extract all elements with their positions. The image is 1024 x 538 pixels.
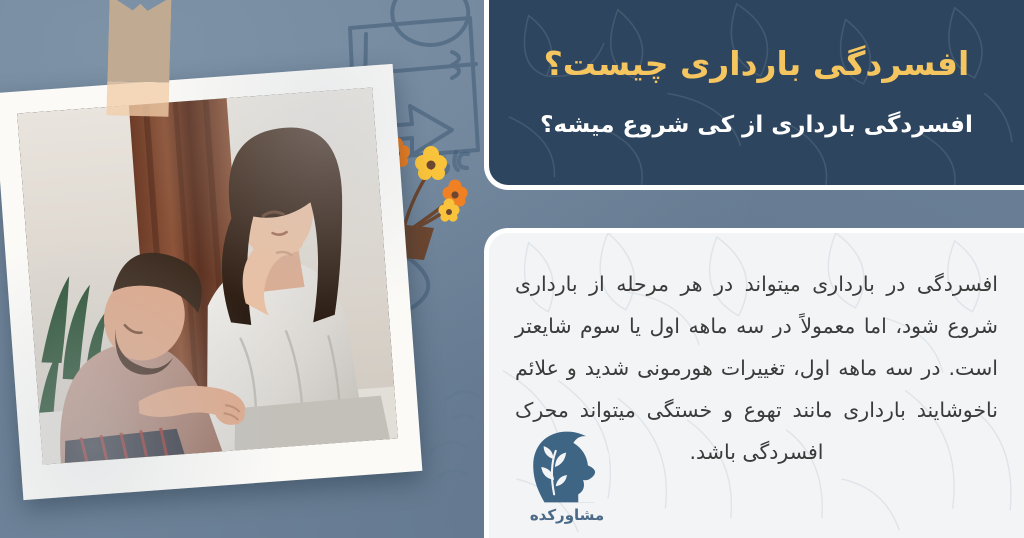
head-with-plant-icon bbox=[525, 430, 609, 504]
header-leaf-pattern bbox=[489, 0, 1024, 185]
photo-image bbox=[17, 87, 398, 464]
tape-lower bbox=[106, 81, 169, 117]
tape-upper bbox=[107, 0, 171, 83]
body-card: افسردگی در بارداری میتواند در هر مرحله ا… bbox=[484, 228, 1024, 538]
logo-wordmark: مشاورکده bbox=[530, 506, 604, 524]
washi-tape bbox=[106, 0, 171, 117]
photo-frame bbox=[0, 64, 422, 500]
page-subtitle: افسردگی بارداری از کی شروع میشه؟ bbox=[540, 112, 973, 138]
infographic-canvas: ther LOVE bbox=[0, 0, 1024, 538]
header-card: افسردگی بارداری چیست؟ افسردگی بارداری از… bbox=[484, 0, 1024, 190]
brand-logo: مشاورکده bbox=[511, 430, 623, 534]
page-title: افسردگی بارداری چیست؟ bbox=[544, 46, 970, 82]
polaroid-photo bbox=[0, 64, 422, 500]
